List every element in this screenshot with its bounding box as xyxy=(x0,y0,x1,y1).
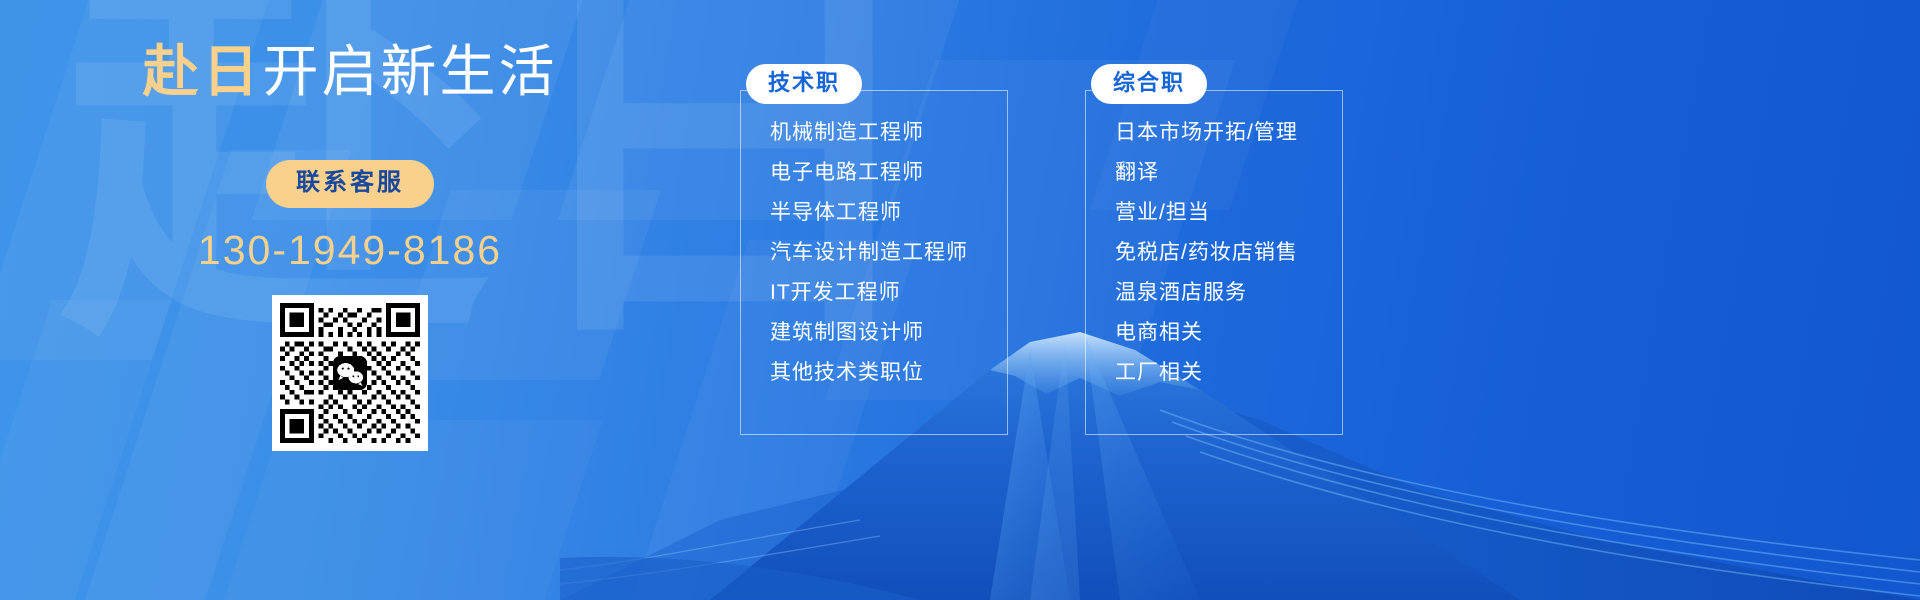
phone-number: 130-1949-8186 xyxy=(198,230,502,271)
list-item[interactable]: 日本市场开拓/管理 xyxy=(1115,122,1345,143)
job-column-badge-technical: 技术职 xyxy=(746,64,862,104)
list-item[interactable]: 翻译 xyxy=(1115,162,1345,183)
contact-panel: 赴日开启新生活 联系客服 130-1949-8186 xyxy=(0,0,700,600)
job-column-general: 综合职 日本市场开拓/管理 翻译 营业/担当 免税店/药妆店销售 温泉酒店服务 … xyxy=(1085,64,1345,402)
list-item[interactable]: 机械制造工程师 xyxy=(770,122,1010,143)
page-title: 赴日开启新生活 xyxy=(143,44,558,100)
list-item[interactable]: 电商相关 xyxy=(1115,322,1345,343)
job-categories: 技术职 机械制造工程师 电子电路工程师 半导体工程师 汽车设计制造工程师 IT开… xyxy=(740,0,1920,600)
list-item[interactable]: 建筑制图设计师 xyxy=(770,322,1010,343)
list-item[interactable]: 营业/担当 xyxy=(1115,202,1345,223)
list-item[interactable]: 其他技术类职位 xyxy=(770,362,1010,383)
job-column-technical: 技术职 机械制造工程师 电子电路工程师 半导体工程师 汽车设计制造工程师 IT开… xyxy=(740,64,1010,402)
job-list-general: 日本市场开拓/管理 翻译 营业/担当 免税店/药妆店销售 温泉酒店服务 电商相关… xyxy=(1085,64,1345,383)
list-item[interactable]: 工厂相关 xyxy=(1115,362,1345,383)
headline-accent: 赴日 xyxy=(143,40,263,103)
list-item[interactable]: 半导体工程师 xyxy=(770,202,1010,223)
list-item[interactable]: IT开发工程师 xyxy=(770,282,1010,303)
qr-code-icon xyxy=(280,303,420,443)
contact-support-button[interactable]: 联系客服 xyxy=(266,160,434,208)
list-item[interactable]: 电子电路工程师 xyxy=(770,162,1010,183)
promo-banner: 赴日 xyxy=(0,0,1920,600)
list-item[interactable]: 汽车设计制造工程师 xyxy=(770,242,1010,263)
headline-rest: 开启新生活 xyxy=(263,40,558,103)
job-list-technical: 机械制造工程师 电子电路工程师 半导体工程师 汽车设计制造工程师 IT开发工程师… xyxy=(740,64,1010,383)
wechat-qr-code[interactable] xyxy=(272,295,428,451)
list-item[interactable]: 温泉酒店服务 xyxy=(1115,282,1345,303)
job-column-badge-general: 综合职 xyxy=(1091,64,1207,104)
list-item[interactable]: 免税店/药妆店销售 xyxy=(1115,242,1345,263)
